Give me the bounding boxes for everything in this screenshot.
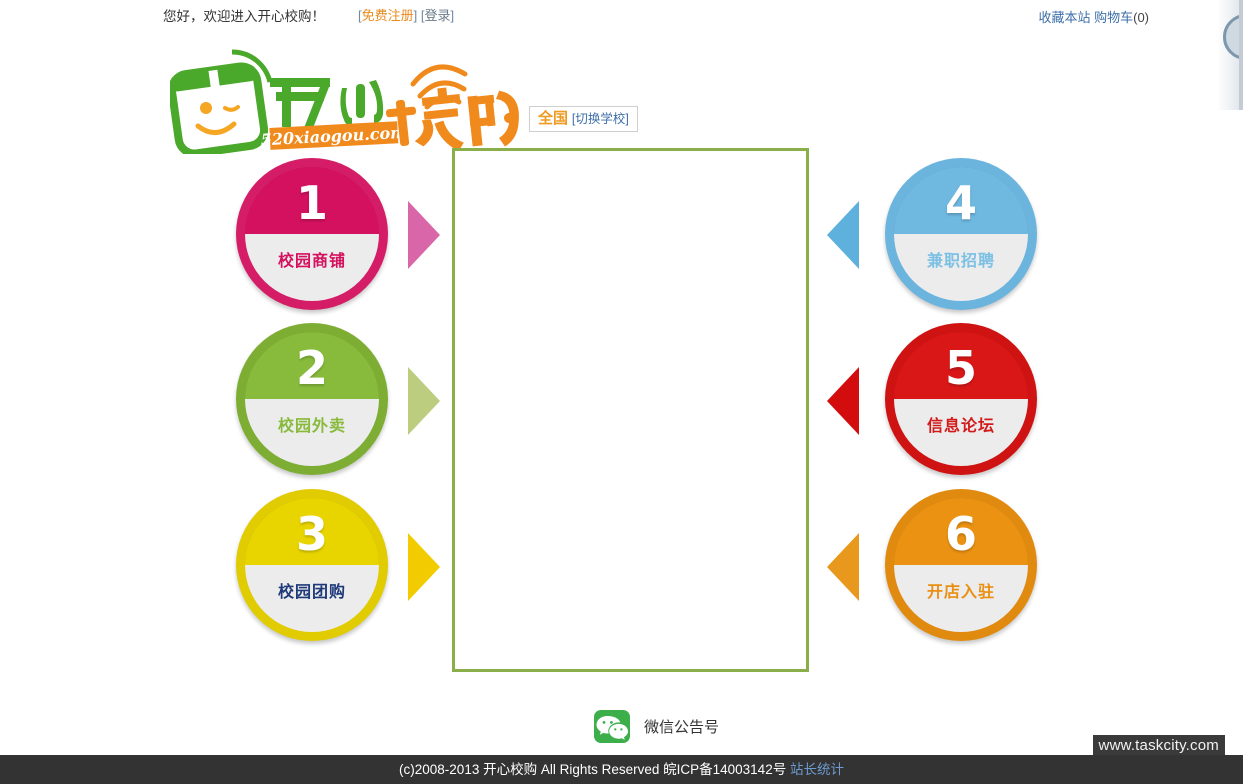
node-inner-disc: 2校园外卖	[245, 332, 379, 466]
node-number: 4	[894, 176, 1028, 230]
center-content-panel	[452, 148, 809, 672]
edge-bar	[1239, 0, 1243, 110]
flow-arrow-5	[827, 367, 859, 435]
node-label: 开店入驻	[894, 578, 1028, 602]
switch-school-link[interactable]: [切换学校]	[572, 112, 629, 126]
corner-decoration-icon	[1217, 0, 1243, 110]
category-node-6[interactable]: 6开店入驻	[885, 489, 1037, 641]
node-number: 6	[894, 507, 1028, 561]
node-inner-disc: 4兼职招聘	[894, 167, 1028, 301]
current-region-label: 全国	[538, 110, 568, 127]
wechat-label: 微信公告号	[644, 716, 719, 737]
node-label: 校园外卖	[245, 412, 379, 436]
node-number: 1	[245, 176, 379, 230]
category-node-3[interactable]: 3校园团购	[236, 489, 388, 641]
node-inner-disc: 5信息论坛	[894, 332, 1028, 466]
bracket-close-register: ]	[414, 8, 418, 23]
node-label: 校园商铺	[245, 247, 379, 271]
watermark-text: www.taskcity.com	[1093, 735, 1225, 755]
category-node-5[interactable]: 5信息论坛	[885, 323, 1037, 475]
flow-arrow-1	[408, 201, 440, 269]
category-node-2[interactable]: 2校园外卖	[236, 323, 388, 475]
login-link[interactable]: 登录	[425, 8, 451, 23]
node-number: 2	[245, 341, 379, 395]
top-bar: 您好，欢迎进入开心校购！ [免费注册] [登录] 收藏本站 购物车(0)	[0, 0, 1227, 31]
footer-bar: (c)2008-2013 开心校购 All Rights Reserved 皖I…	[0, 755, 1243, 784]
wechat-icon	[594, 710, 630, 743]
logo-artwork: 520xiaogou.com	[170, 42, 520, 154]
register-link[interactable]: 免费注册	[362, 8, 414, 23]
node-inner-disc: 1校园商铺	[245, 167, 379, 301]
top-right-links: 收藏本站 购物车(0)	[1038, 7, 1149, 26]
flow-arrow-3	[408, 533, 440, 601]
cart-link[interactable]: 购物车	[1094, 10, 1133, 25]
node-inner-disc: 3校园团购	[245, 498, 379, 632]
wechat-glyph	[594, 710, 630, 743]
category-node-1[interactable]: 1校园商铺	[236, 158, 388, 310]
auth-links: [免费注册] [登录]	[358, 5, 454, 24]
copyright-text: (c)2008-2013 开心校购 All Rights Reserved 皖I…	[399, 762, 786, 777]
page-root: 您好，欢迎进入开心校购！ [免费注册] [登录] 收藏本站 购物车(0)	[0, 0, 1243, 784]
node-inner-disc: 6开店入驻	[894, 498, 1028, 632]
school-selector[interactable]: 全国 [切换学校]	[529, 106, 638, 132]
category-node-4[interactable]: 4兼职招聘	[885, 158, 1037, 310]
welcome-greeting: 您好，欢迎进入开心校购！	[163, 5, 325, 25]
node-label: 校园团购	[245, 578, 379, 602]
node-label: 兼职招聘	[894, 247, 1028, 271]
cart-count: (0)	[1133, 10, 1149, 25]
bracket-close-login: ]	[451, 8, 455, 23]
wechat-block[interactable]: 微信公告号	[594, 710, 719, 743]
favorite-site-link[interactable]: 收藏本站	[1038, 10, 1090, 25]
node-label: 信息论坛	[894, 412, 1028, 436]
node-number: 5	[894, 341, 1028, 395]
node-number: 3	[245, 507, 379, 561]
stat-link[interactable]: 站长统计	[790, 762, 844, 777]
flow-arrow-6	[827, 533, 859, 601]
flow-arrow-2	[408, 367, 440, 435]
site-logo[interactable]: 520xiaogou.com	[170, 42, 520, 152]
flow-arrow-4	[827, 201, 859, 269]
